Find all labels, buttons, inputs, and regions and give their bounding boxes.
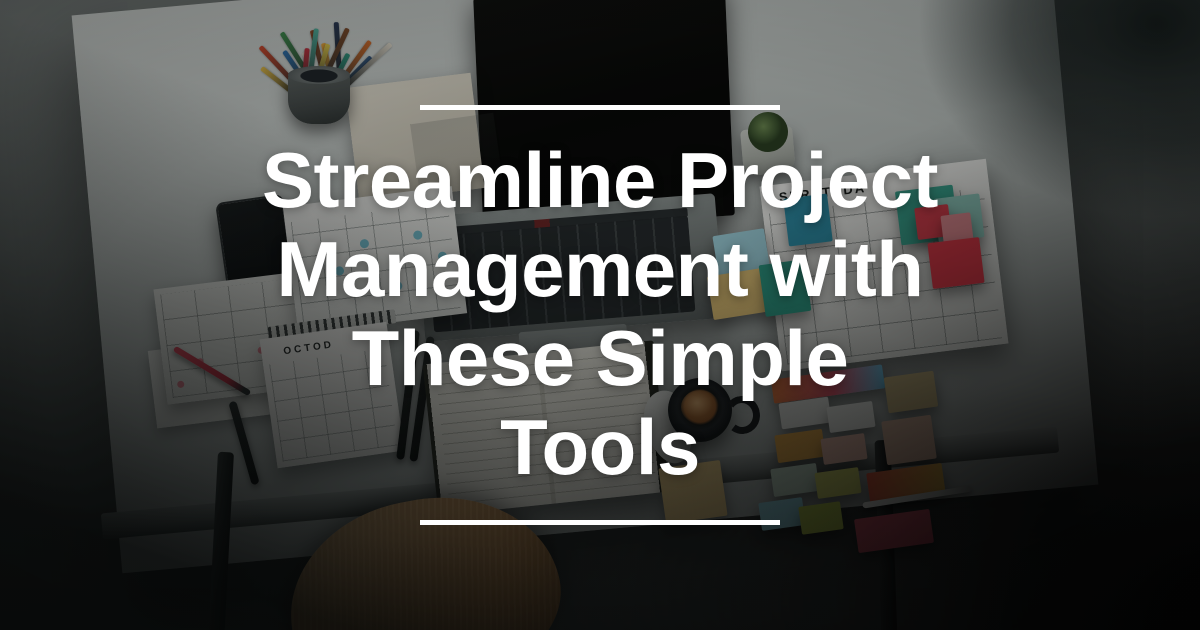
hero-card: OCTOD SERSTUDA [0,0,1200,630]
headline-line-3: These Simple [352,314,849,402]
divider-bottom [420,520,780,525]
headline-line-1: Streamline Project [262,136,938,224]
headline-overlay: Streamline Project Management with These… [0,0,1200,630]
headline-line-4: Tools [500,403,700,491]
headline-line-2: Management with [277,225,924,313]
page-title: Streamline Project Management with These… [262,136,938,492]
divider-top [420,105,780,110]
